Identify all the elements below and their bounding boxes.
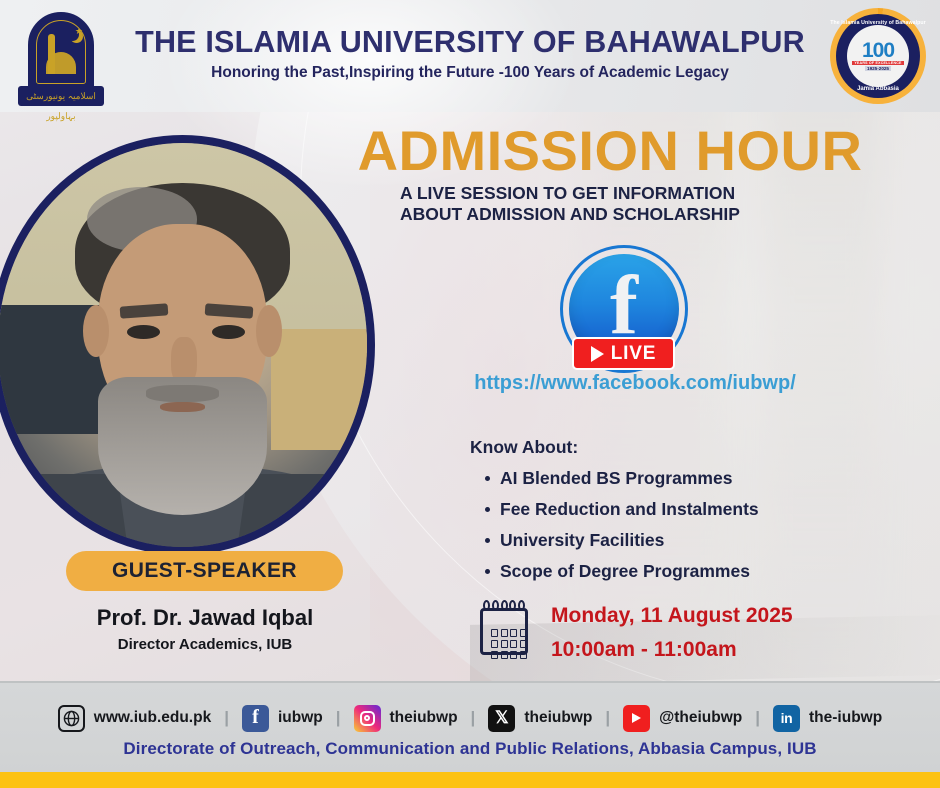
- social-label: www.iub.edu.pk: [94, 709, 211, 727]
- social-linkedin[interactable]: in the-iubwp: [760, 705, 895, 732]
- portrait-eye-right: [212, 325, 245, 339]
- social-label: iubwp: [278, 709, 323, 727]
- portrait-photo: [0, 143, 367, 547]
- facebook-live-logo[interactable]: f LIVE: [560, 245, 688, 375]
- subtitle-line-1: A LIVE SESSION TO GET INFORMATION: [400, 183, 820, 204]
- social-facebook[interactable]: f iubwp: [229, 705, 336, 732]
- list-item: Fee Reduction and Instalments: [500, 494, 759, 525]
- speaker-role: Director Academics, IUB: [0, 636, 410, 653]
- portrait-lips: [160, 402, 204, 413]
- portrait-ear-left: [83, 305, 109, 358]
- portrait-bg-right: [271, 329, 367, 450]
- instagram-icon: [354, 705, 381, 732]
- guest-speaker-badge: GUEST-SPEAKER: [66, 551, 343, 591]
- department-line: Directorate of Outreach, Communication a…: [0, 739, 940, 759]
- poster-header: ★ اسلامیہ یونیورسٹی بہاولپور THE ISLAMIA…: [0, 0, 940, 112]
- know-about-list: AI Blended BS Programmes Fee Reduction a…: [478, 463, 759, 587]
- admission-hour-poster: ★ اسلامیہ یونیورسٹی بہاولپور THE ISLAMIA…: [0, 0, 940, 788]
- list-item: University Facilities: [500, 525, 759, 556]
- bottom-gold-bar: [0, 772, 940, 788]
- crest-urdu-text: اسلامیہ یونیورسٹی بہاولپور: [18, 86, 104, 106]
- facebook-icon: f: [242, 705, 269, 732]
- social-label: @theiubwp: [659, 709, 742, 727]
- social-x-twitter[interactable]: 𝕏 theiubwp: [475, 705, 605, 732]
- speaker-name: Prof. Dr. Jawad Iqbal: [0, 605, 410, 631]
- know-about-heading: Know About:: [470, 437, 578, 458]
- calendar-grid: [491, 629, 527, 659]
- speaker-portrait: [0, 135, 375, 555]
- youtube-icon: [623, 705, 650, 732]
- list-item: Scope of Degree Programmes: [500, 556, 759, 587]
- facebook-url-link[interactable]: https://www.facebook.com/iubwp/: [400, 372, 870, 395]
- seal-face: 100 YEARS OF EXCELLENCE 1925-2025: [847, 25, 909, 87]
- live-badge: LIVE: [572, 337, 675, 370]
- social-media-row: www.iub.edu.pk | f iubwp | theiubwp | 𝕏 …: [0, 701, 940, 735]
- centenary-seal-logo: The Islamia University of Bahawalpur Jam…: [830, 8, 926, 104]
- seal-years: 1925-2025: [865, 66, 891, 71]
- social-youtube[interactable]: @theiubwp: [610, 705, 755, 732]
- subtitle-line-2: ABOUT ADMISSION AND SCHOLARSHIP: [400, 204, 820, 225]
- page-subtitle: A LIVE SESSION TO GET INFORMATION ABOUT …: [400, 183, 820, 226]
- university-name: THE ISLAMIA UNIVERSITY OF BAHAWALPUR: [0, 25, 940, 60]
- social-label: the-iubwp: [809, 709, 882, 727]
- x-twitter-icon: 𝕏: [488, 705, 515, 732]
- portrait-eye-left: [127, 325, 160, 339]
- event-date: Monday, 11 August 2025: [551, 604, 793, 628]
- play-icon: [591, 346, 604, 362]
- university-tagline: Honoring the Past,Inspiring the Future -…: [0, 64, 940, 82]
- calendar-body: [480, 608, 528, 655]
- seal-subtext: YEARS OF EXCELLENCE: [852, 61, 903, 65]
- social-label: theiubwp: [524, 709, 592, 727]
- event-time: 10:00am - 11:00am: [551, 638, 737, 662]
- portrait-ear-right: [256, 305, 282, 358]
- live-label: LIVE: [611, 343, 656, 365]
- calendar-icon: [478, 600, 530, 656]
- seal-number: 100: [862, 41, 894, 61]
- page-title: ADMISSION HOUR: [330, 118, 890, 183]
- social-instagram[interactable]: theiubwp: [341, 705, 471, 732]
- portrait-moustache: [146, 385, 220, 401]
- list-item: AI Blended BS Programmes: [500, 463, 759, 494]
- globe-icon: [58, 705, 85, 732]
- linkedin-icon: in: [773, 705, 800, 732]
- social-website[interactable]: www.iub.edu.pk: [45, 705, 224, 732]
- social-label: theiubwp: [390, 709, 458, 727]
